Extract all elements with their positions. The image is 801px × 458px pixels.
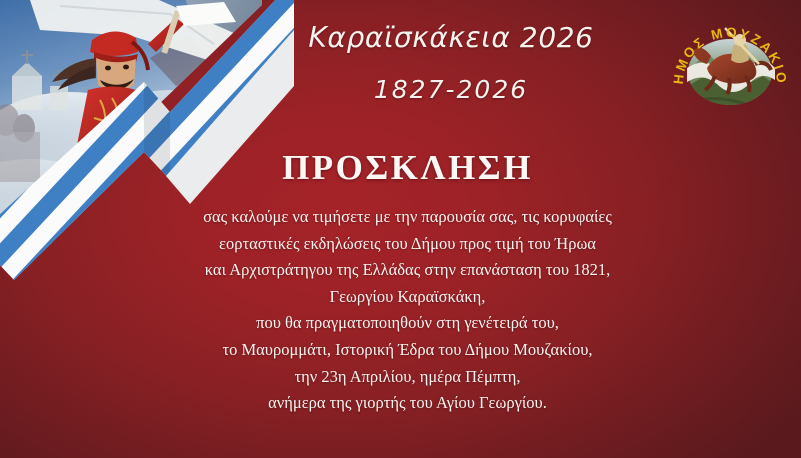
event-years: 1827-2026 — [236, 77, 666, 102]
municipality-logo: ΔΗΜΟΣ ΜΟΥΖΑΚΙΟΥ — [671, 6, 789, 114]
invitation-body-line: που θα πραγματοποιηθούν στη γενέτειρά το… — [14, 310, 801, 337]
invitation-body-line: Γεωργίου Καραϊσκάκη, — [14, 284, 801, 311]
invitation-heading: ΠΡΟΣΚΛΗΣΗ — [0, 148, 801, 188]
invitation-poster: ΔΗΜΟΣ ΜΟΥΖΑΚΙΟΥ Καραϊσκάκεια 2026 1827-2… — [0, 0, 801, 458]
heading-group: Καραϊσκάκεια 2026 1827-2026 — [236, 24, 666, 102]
invitation-body-line: την 23η Απριλίου, ημέρα Πέμπτη, — [14, 364, 801, 391]
invitation-body-line: εορταστικές εκδηλώσεις του Δήμου προς τι… — [14, 231, 801, 258]
invitation-body-line: σας καλούμε να τιμήσετε με την παρουσία … — [14, 204, 801, 231]
invitation-body: σας καλούμε να τιμήσετε με την παρουσία … — [0, 204, 801, 417]
event-title: Καραϊσκάκεια 2026 — [236, 24, 666, 52]
invitation-body-line: το Μαυρομμάτι, Ιστορική Έδρα του Δήμου Μ… — [14, 337, 801, 364]
invitation-body-line: και Αρχιστράτηγου της Ελλάδας στην επανά… — [14, 257, 801, 284]
invitation-body-line: ανήμερα της γιορτής του Αγίου Γεωργίου. — [14, 390, 801, 417]
